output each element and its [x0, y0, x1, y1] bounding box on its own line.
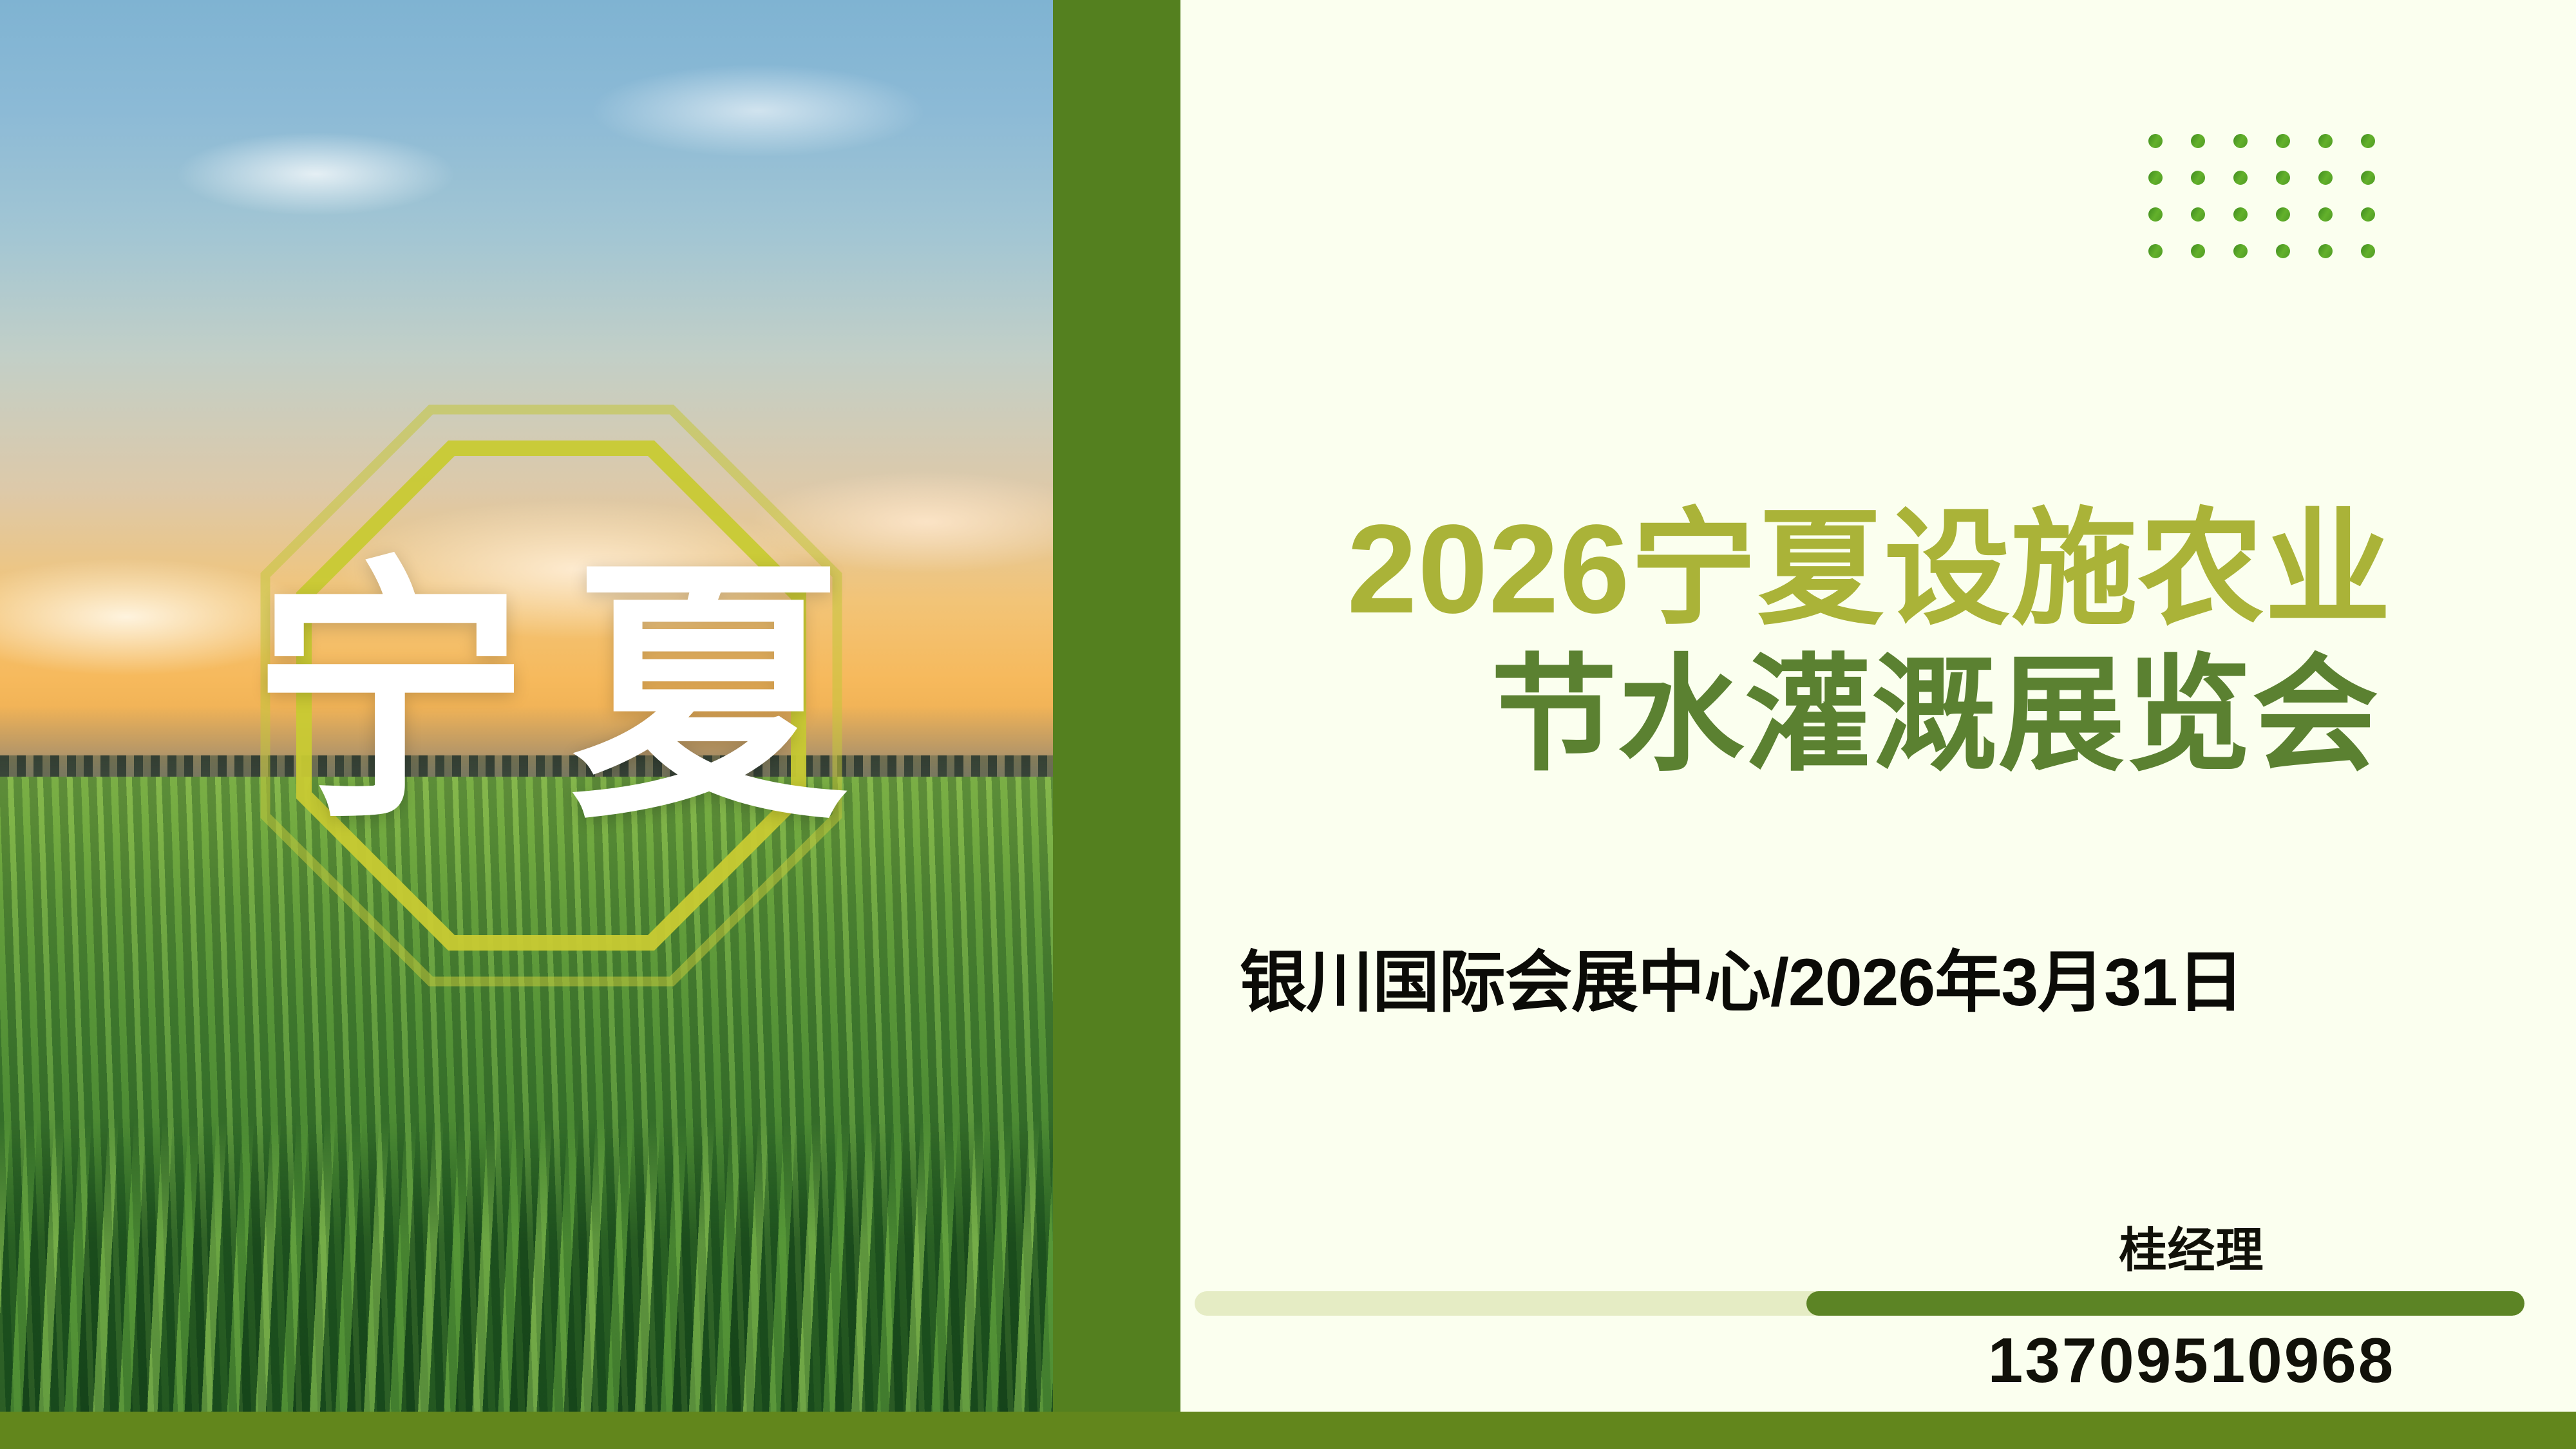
- contact-phone-number[interactable]: 13709510968: [1889, 1329, 2494, 1392]
- hero-photo: 宁 夏: [0, 0, 1053, 1412]
- dot: [2318, 134, 2333, 148]
- dot: [2233, 134, 2248, 148]
- dot: [2361, 171, 2375, 185]
- bottom-accent-strip: [0, 1412, 2576, 1449]
- content-panel: 2026宁夏设施农业 节水灌溉展览会 银川国际会展中心/2026年3月31日 桂…: [1180, 0, 2576, 1412]
- event-title: 2026宁夏设施农业 节水灌溉展览会: [1180, 496, 2576, 789]
- dot-grid-decoration: [2148, 134, 2375, 258]
- dot: [2191, 207, 2205, 222]
- dot: [2361, 134, 2375, 148]
- photo-overlay-word: 宁 夏: [260, 386, 842, 1005]
- event-title-line-2: 节水灌溉展览会: [1180, 642, 2576, 788]
- photo-overlay-char-1: 宁: [252, 557, 533, 834]
- dot: [2148, 207, 2163, 222]
- dot: [2191, 171, 2205, 185]
- venue-and-date: 银川国际会展中心/2026年3月31日: [1240, 927, 2553, 1025]
- dot: [2148, 244, 2163, 258]
- vertical-divider-band: [1053, 0, 1180, 1412]
- accent-progress-bar: [1195, 1291, 2524, 1316]
- dot: [2276, 244, 2290, 258]
- photo-overlay-char-2: 夏: [570, 557, 851, 834]
- dot: [2276, 134, 2290, 148]
- contact-person-name: 桂经理: [2011, 1227, 2372, 1274]
- dot: [2148, 171, 2163, 185]
- dot: [2191, 244, 2205, 258]
- dot: [2361, 244, 2375, 258]
- dot: [2318, 244, 2333, 258]
- dot: [2318, 171, 2333, 185]
- dot: [2276, 171, 2290, 185]
- dot: [2361, 207, 2375, 222]
- dot: [2276, 207, 2290, 222]
- dot: [2191, 134, 2205, 148]
- dot: [2233, 171, 2248, 185]
- poster-canvas: 宁 夏: [0, 0, 2576, 1449]
- dot: [2233, 207, 2248, 222]
- dot: [2148, 134, 2163, 148]
- dot: [2318, 207, 2333, 222]
- accent-progress-fill: [1806, 1291, 2524, 1316]
- dot: [2233, 244, 2248, 258]
- event-title-line-1: 2026宁夏设施农业: [1180, 496, 2576, 642]
